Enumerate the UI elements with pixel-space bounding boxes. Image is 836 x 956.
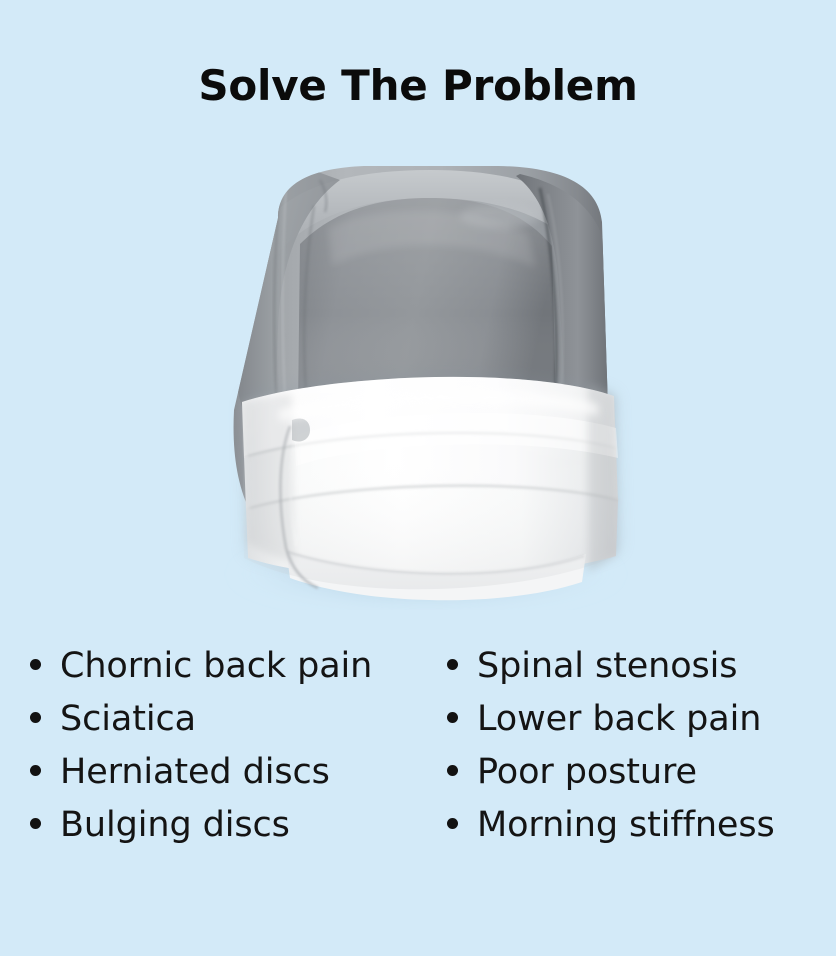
list-item: Sciatica [30,693,430,746]
product-image [168,158,678,610]
brace-white-pads [242,375,620,601]
bullet-icon [447,641,477,694]
bullet-icon [447,747,477,800]
list-item: Lower back pain [447,693,836,746]
issue-label: Sciatica [60,693,196,746]
issues-list: Chornic back pain Sciatica Herniated dis… [0,640,836,868]
issues-column-right: Spinal stenosis Lower back pain Poor pos… [430,640,836,868]
issues-column-left: Chornic back pain Sciatica Herniated dis… [0,640,430,868]
bullet-icon [30,641,60,694]
bullet-icon [30,694,60,747]
page-title: Solve The Problem [0,62,836,109]
bullet-icon [447,800,477,853]
list-item: Bulging discs [30,799,430,852]
list-item: Poor posture [447,746,836,799]
bullet-icon [30,747,60,800]
list-item: Morning stiffness [447,799,836,852]
back-brace-illustration [168,158,678,610]
bullet-icon [30,800,60,853]
issue-label: Poor posture [477,746,697,799]
issue-label: Bulging discs [60,799,290,852]
list-item: Chornic back pain [30,640,430,693]
list-item: Spinal stenosis [447,640,836,693]
issue-label: Herniated discs [60,746,330,799]
page-root: Solve The Problem [0,0,836,956]
issue-label: Chornic back pain [60,640,372,693]
issue-label: Morning stiffness [477,799,775,852]
bullet-icon [447,694,477,747]
list-item: Herniated discs [30,746,430,799]
issue-label: Spinal stenosis [477,640,737,693]
issue-label: Lower back pain [477,693,761,746]
